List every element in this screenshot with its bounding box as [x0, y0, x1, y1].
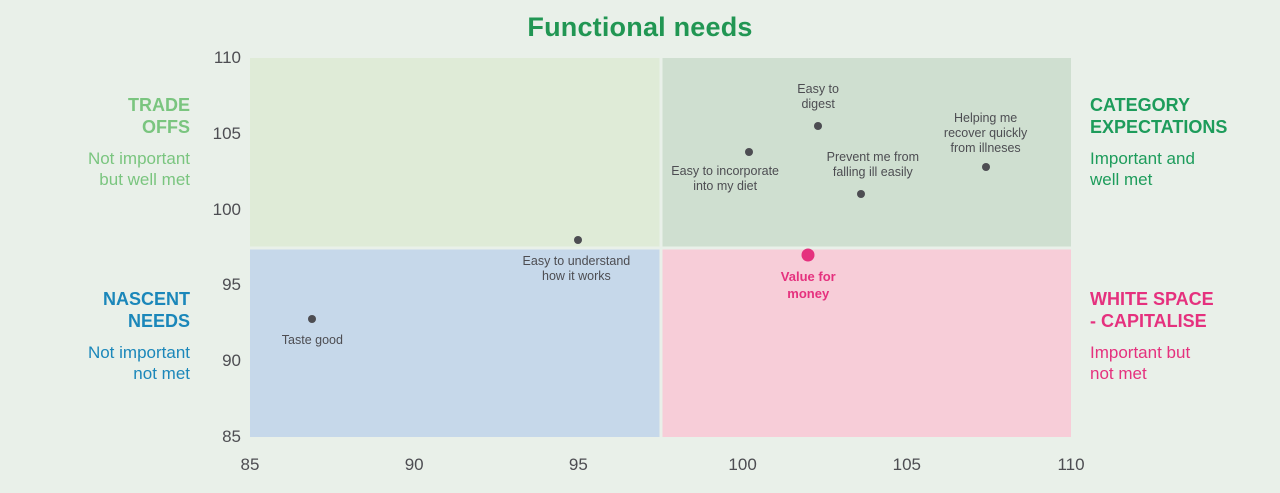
data-point[interactable]: [745, 148, 753, 156]
data-point[interactable]: [857, 190, 865, 198]
annotation-nascent-needs-subtext: Not important not met: [0, 342, 190, 384]
y-axis-tick: 105: [181, 124, 241, 144]
data-point-label: Easy to digest: [797, 82, 839, 112]
annotation-trade-offs: TRADE OFFS Not important but well met: [0, 94, 190, 190]
annotation-category-expectations-heading: CATEGORY EXPECTATIONS: [1090, 94, 1280, 138]
data-point[interactable]: [574, 236, 582, 244]
data-point[interactable]: [308, 315, 316, 323]
x-axis-tick: 105: [872, 455, 942, 475]
annotation-nascent-needs-heading: NASCENT NEEDS: [0, 288, 190, 332]
x-axis-tick: 90: [379, 455, 449, 475]
annotation-white-space-subtext: Important but not met: [1090, 342, 1280, 384]
quadrant-trade-offs: [250, 58, 661, 248]
annotation-white-space: WHITE SPACE - CAPITALISE Important but n…: [1090, 288, 1280, 384]
annotation-trade-offs-subtext: Not important but well met: [0, 148, 190, 190]
data-point[interactable]: [814, 122, 822, 130]
data-point[interactable]: [802, 249, 815, 262]
data-point-label: Prevent me from falling ill easily: [827, 150, 919, 180]
annotation-trade-offs-heading: TRADE OFFS: [0, 94, 190, 138]
page-title: Functional needs: [0, 12, 1280, 43]
data-point-label: Helping me recover quickly from illneses: [944, 111, 1027, 156]
plot-area: Easy to incorporate into my dietEasy to …: [250, 58, 1071, 437]
quadrant-divider-horizontal: [250, 246, 1071, 249]
y-axis-tick: 100: [181, 200, 241, 220]
data-point[interactable]: [982, 163, 990, 171]
annotation-category-expectations-subtext: Important and well met: [1090, 148, 1280, 190]
x-axis-tick: 110: [1036, 455, 1106, 475]
x-axis-tick: 85: [215, 455, 285, 475]
y-axis-tick: 90: [181, 351, 241, 371]
data-point-label: Value for money: [781, 268, 836, 302]
data-point-label: Easy to understand how it works: [523, 254, 631, 284]
y-axis-tick: 110: [181, 48, 241, 68]
data-point-label: Easy to incorporate into my diet: [671, 164, 779, 194]
data-point-label: Taste good: [282, 333, 343, 348]
annotation-category-expectations: CATEGORY EXPECTATIONS Important and well…: [1090, 94, 1280, 190]
y-axis-tick: 85: [181, 427, 241, 447]
chart-root: Functional needs 859095100105110 8590951…: [0, 0, 1280, 493]
y-axis-tick: 95: [181, 275, 241, 295]
annotation-nascent-needs: NASCENT NEEDS Not important not met: [0, 288, 190, 384]
x-axis-tick: 95: [543, 455, 613, 475]
x-axis-tick: 100: [708, 455, 778, 475]
annotation-white-space-heading: WHITE SPACE - CAPITALISE: [1090, 288, 1280, 332]
quadrant-white-space: [661, 248, 1072, 438]
